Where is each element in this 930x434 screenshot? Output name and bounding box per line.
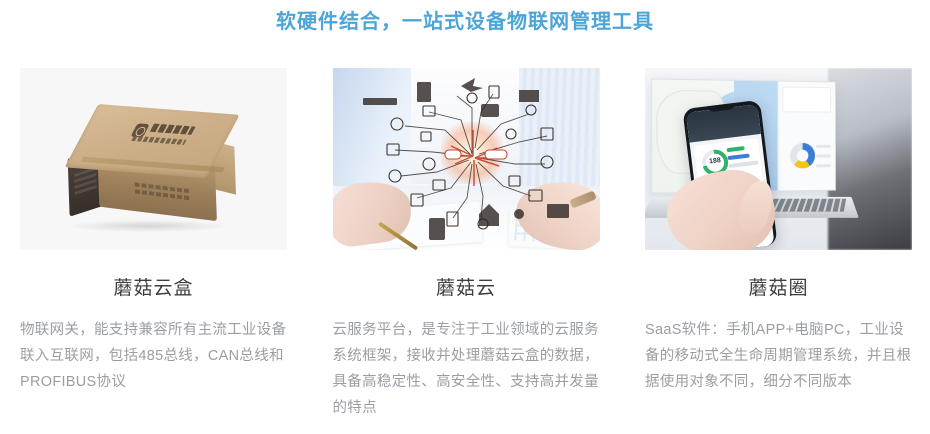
- card-description: SaaS软件：手机APP+电脑PC，工业设备的移动式全生命周期管理系统，并且根据…: [645, 317, 912, 395]
- card-description: 物联网关，能支持兼容所有主流工业设备联入互联网，包括485总线，CAN总线和PR…: [20, 317, 287, 395]
- legend-row: [728, 160, 758, 168]
- background-blur: [828, 68, 912, 250]
- ring-value: 188: [702, 156, 729, 166]
- cardboard-box-illustration: [60, 107, 249, 228]
- page-title: 软硬件结合，一站式设备物联网管理工具: [0, 8, 930, 36]
- panel-row: [816, 164, 831, 167]
- logo-tagline: [131, 136, 186, 145]
- panel-widget: [782, 87, 831, 113]
- page-root: 软硬件结合，一站式设备物联网管理工具: [0, 0, 930, 434]
- card-title: 蘑菇云盒: [20, 277, 287, 301]
- app-legend: [726, 145, 759, 172]
- feature-card[interactable]: 蘑菇云盒 物联网关，能支持兼容所有主流工业设备联入互联网，包括485总线，CAN…: [20, 68, 287, 408]
- cloud-platform-photo: [333, 68, 600, 250]
- dashboard-side-panel: [777, 82, 834, 193]
- card-title: 蘑菇云: [333, 277, 600, 301]
- panel-row: [816, 145, 831, 148]
- legend-row: [726, 146, 744, 152]
- panel-row: [816, 155, 831, 158]
- mushroom-cloud-box-photo: [20, 68, 287, 250]
- brand-logo-icon: [127, 121, 197, 148]
- saas-app-photo: 188: [645, 68, 912, 250]
- card-description: 云服务平台，是专注于工业领域的云服务系统框架，接收并处理蘑菇云盒的数据，具备高稳…: [333, 317, 600, 421]
- circuit-network-overlay: [333, 68, 600, 250]
- feature-card-row: 蘑菇云盒 物联网关，能支持兼容所有主流工业设备联入互联网，包括485总线，CAN…: [20, 68, 912, 408]
- card-title: 蘑菇圈: [645, 277, 912, 301]
- feature-card[interactable]: 188: [645, 68, 912, 408]
- donut-chart: [790, 143, 815, 169]
- legend-row: [727, 154, 749, 161]
- logo-wordmark: [150, 124, 196, 135]
- feature-card[interactable]: 蘑菇云 云服务平台，是专注于工业领域的云服务系统框架，接收并处理蘑菇云盒的数据，…: [333, 68, 600, 408]
